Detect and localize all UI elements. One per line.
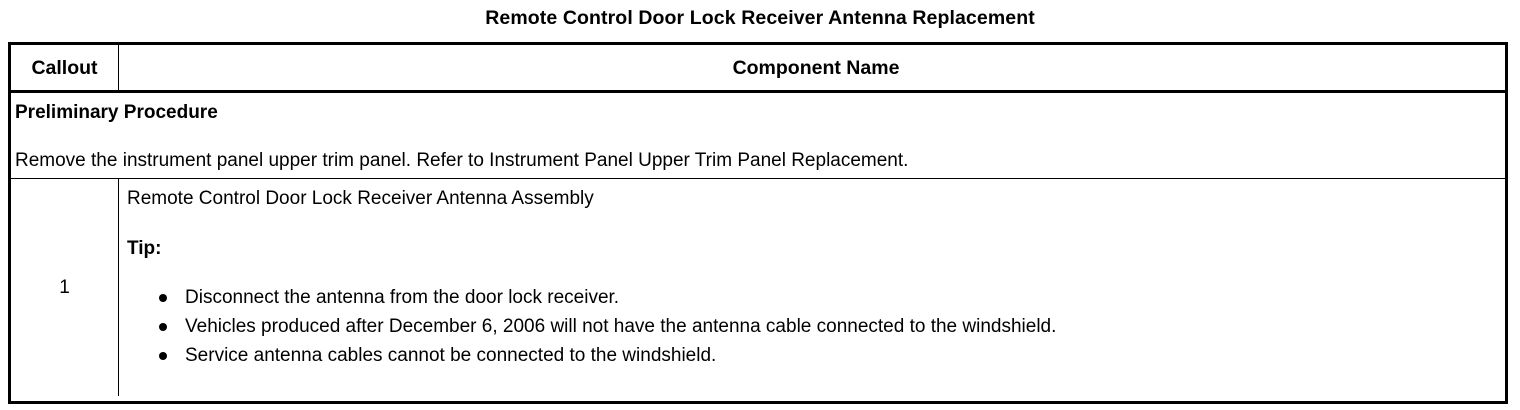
component-description-cell: Remote Control Door Lock Receiver Antenn… — [118, 179, 1505, 396]
preliminary-procedure-text: Remove the instrument panel upper trim p… — [15, 149, 1505, 173]
preliminary-procedure-heading: Preliminary Procedure — [15, 101, 1505, 125]
page-title: Remote Control Door Lock Receiver Antenn… — [0, 6, 1520, 30]
component-name-text: Remote Control Door Lock Receiver Antenn… — [127, 187, 1505, 211]
header-label-component-name: Component Name — [733, 57, 900, 79]
header-label-callout: Callout — [31, 57, 97, 79]
list-item: Service antenna cables cannot be connect… — [127, 341, 1505, 370]
bullet-icon — [159, 352, 167, 360]
table-header-row: Callout Component Name — [11, 45, 1505, 93]
preliminary-procedure-row: Preliminary Procedure Remove the instrum… — [11, 93, 1505, 179]
list-item-text: Disconnect the antenna from the door loc… — [185, 287, 619, 308]
table-row: 1 Remote Control Door Lock Receiver Ante… — [11, 179, 1505, 396]
header-cell-callout: Callout — [11, 45, 118, 90]
list-item: Disconnect the antenna from the door loc… — [127, 283, 1505, 312]
list-item: Vehicles produced after December 6, 2006… — [127, 312, 1505, 341]
list-item-text: Vehicles produced after December 6, 2006… — [185, 316, 1056, 337]
bullet-icon — [159, 294, 167, 302]
procedure-table: Callout Component Name Preliminary Proce… — [8, 42, 1508, 404]
document-page: Remote Control Door Lock Receiver Antenn… — [0, 0, 1520, 410]
callout-number: 1 — [11, 179, 118, 396]
list-item-text: Service antenna cables cannot be connect… — [185, 345, 716, 366]
bullet-icon — [159, 323, 167, 331]
header-cell-component-name: Component Name — [118, 45, 1505, 90]
tip-list: Disconnect the antenna from the door loc… — [127, 283, 1505, 370]
tip-label: Tip: — [127, 237, 1505, 261]
